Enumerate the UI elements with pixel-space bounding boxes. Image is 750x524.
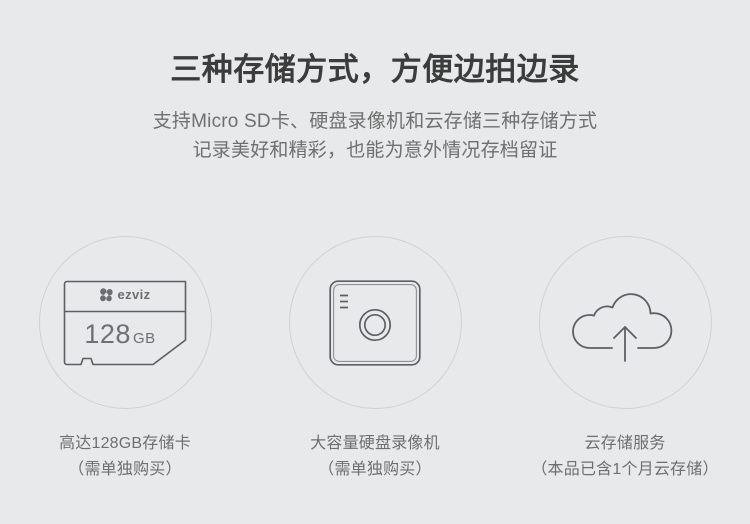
header-block: 三种存储方式，方便边拍边录 支持Micro SD卡、硬盘录像机和云存储三种存储方…	[0, 0, 750, 165]
feature-caption-line-1: 大容量硬盘录像机	[310, 431, 440, 457]
feature-nvr-recorder: 大容量硬盘录像机 （需单独购买）	[250, 236, 500, 483]
page-subtitle: 支持Micro SD卡、硬盘录像机和云存储三种存储方式 记录美好和精彩，也能为意…	[0, 90, 750, 165]
ezviz-logo-mark-icon	[99, 288, 115, 302]
feature-caption: 云存储服务 （本品已含1个月云存储）	[531, 431, 718, 483]
feature-storage-card: ezviz 128 GB 高达128GB存储卡 （需单独购买）	[0, 236, 250, 483]
nvr-recorder-icon	[329, 280, 421, 366]
page-title: 三种存储方式，方便边拍边录	[0, 0, 750, 90]
feature-caption-line-2: （本品已含1个月云存储）	[531, 457, 718, 483]
sd-capacity-label: 128 GB	[63, 321, 177, 348]
sd-capacity-number: 128	[84, 321, 131, 348]
feature-caption-line-2: （需单独购买）	[310, 457, 440, 483]
feature-caption-line-1: 云存储服务	[531, 431, 718, 457]
feature-caption-line-2: （需单独购买）	[59, 457, 191, 483]
feature-row: ezviz 128 GB 高达128GB存储卡 （需单独购买）	[0, 236, 750, 483]
ezviz-logo: ezviz	[63, 288, 187, 302]
feature-icon-circle	[289, 236, 462, 409]
subtitle-line-1: 支持Micro SD卡、硬盘录像机和云存储三种存储方式	[0, 107, 750, 136]
ezviz-logo-text: ezviz	[117, 288, 150, 301]
subtitle-line-2: 记录美好和精彩，也能为意外情况存档留证	[0, 136, 750, 165]
cloud-upload-icon	[572, 283, 678, 363]
feature-cloud-storage: 云存储服务 （本品已含1个月云存储）	[500, 236, 750, 483]
feature-caption: 高达128GB存储卡 （需单独购买）	[59, 431, 191, 483]
feature-icon-circle: ezviz 128 GB	[39, 236, 212, 409]
feature-caption-line-1: 高达128GB存储卡	[59, 431, 191, 457]
sd-capacity-unit: GB	[133, 331, 156, 346]
feature-caption: 大容量硬盘录像机 （需单独购买）	[310, 431, 440, 483]
feature-icon-circle	[539, 236, 712, 409]
micro-sd-card-icon: ezviz 128 GB	[63, 280, 187, 366]
